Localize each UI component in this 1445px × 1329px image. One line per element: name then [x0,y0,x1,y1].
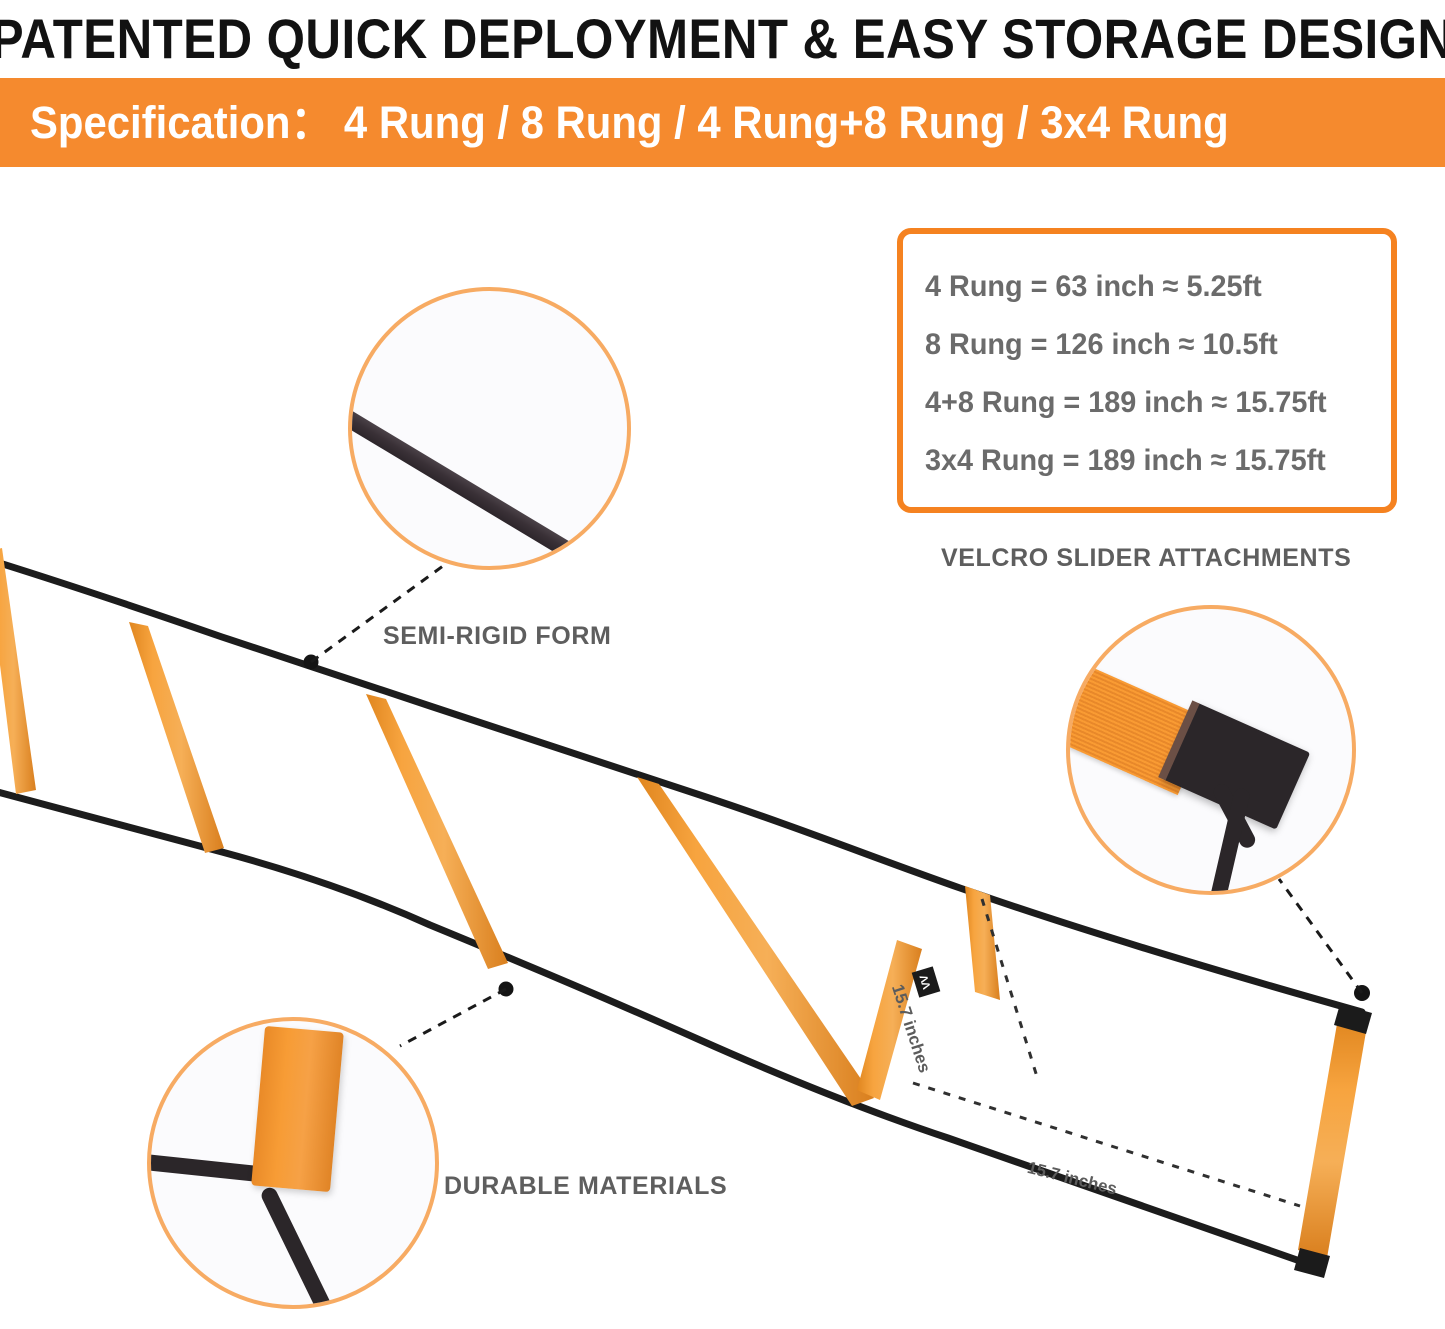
specification-box: 4 Rung = 63 inch ≈ 5.25ft 8 Rung = 126 i… [897,228,1397,513]
semi-rigid-strap [348,400,626,570]
spec-line-8-rung: 8 Rung = 126 inch ≈ 10.5ft [925,316,1372,374]
ladder-rung [1298,1018,1367,1258]
durable-rung-sleeve [251,1026,344,1192]
magnifier-durable [147,1017,439,1309]
infographic-page: PATENTED QUICK DEPLOYMENT & EASY STORAGE… [0,0,1445,1329]
callout-label-durable: DURABLE MATERIALS [444,1172,727,1201]
spec-line-4-rung: 4 Rung = 63 inch ≈ 5.25ft [925,258,1372,316]
callout-label-velcro: VELCRO SLIDER ATTACHMENTS [941,544,1351,573]
magnifier-durable-content [151,1021,435,1305]
spec-line-3x4-rung: 3x4 Rung = 189 inch ≈ 15.75ft [925,432,1372,490]
ladder-rung [129,622,224,853]
callout-label-semi-rigid: SEMI-RIGID FORM [383,622,611,651]
durable-cord-right [259,1185,339,1309]
magnifier-velcro-content [1070,609,1352,891]
spec-line-4plus8: 4+8 Rung = 189 inch ≈ 15.75ft [925,374,1372,432]
magnifier-semi-rigid-content [352,291,627,566]
ladder-rung [0,548,36,794]
magnifier-semi-rigid [348,287,631,570]
brand-tag-label: VV [918,974,933,991]
magnifier-velcro [1066,605,1356,895]
ladder-rung [637,777,874,1106]
leader-line-velcro [1279,879,1362,993]
